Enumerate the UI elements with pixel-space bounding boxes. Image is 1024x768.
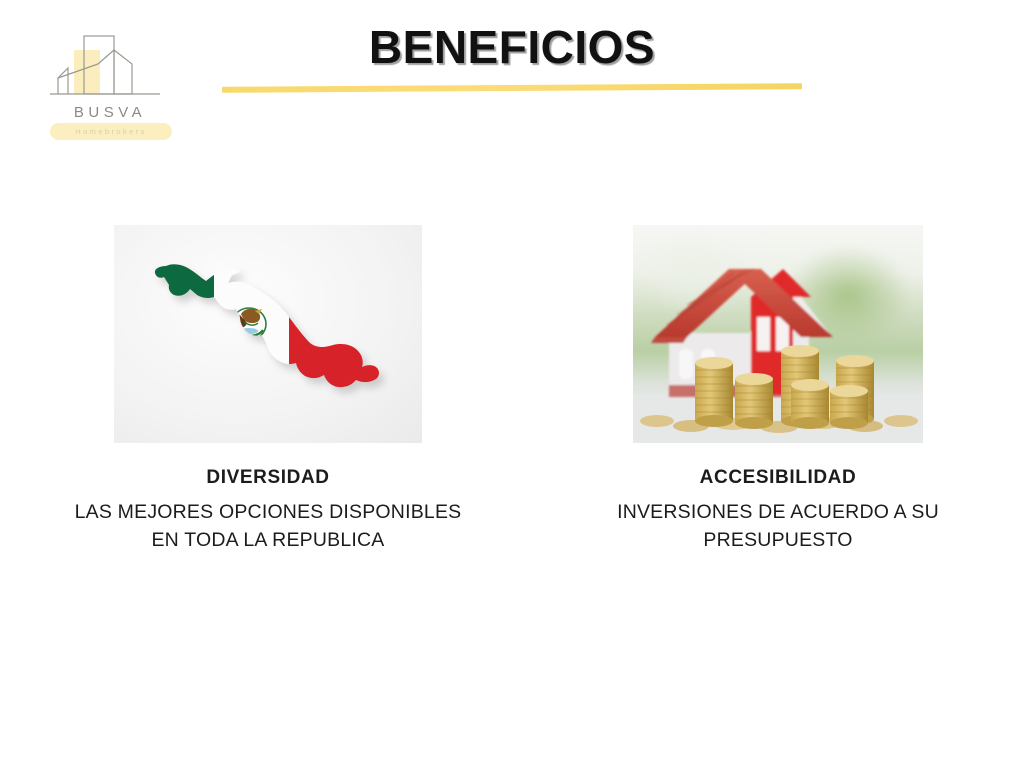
page-title: BENEFICIOS: [0, 20, 1024, 74]
caption-body-accesibilidad-line1: INVERSIONES DE ACUERDO A SU: [570, 498, 986, 526]
caption-body-diversidad-line2: EN TODA LA REPUBLICA: [40, 526, 496, 554]
caption-diversidad: DIVERSIDAD LAS MEJORES OPCIONES DISPONIB…: [40, 467, 496, 555]
benefit-card-diversidad: DIVERSIDAD LAS MEJORES OPCIONES DISPONIB…: [40, 225, 496, 555]
benefit-card-accesibilidad: ACCESIBILIDAD INVERSIONES DE ACUERDO A S…: [570, 225, 986, 555]
logo-tagline: Homebrokers: [50, 123, 172, 140]
caption-heading-diversidad: DIVERSIDAD: [40, 467, 496, 489]
logo-tagline-band: Homebrokers: [50, 123, 172, 140]
title-underline-rule: [222, 83, 802, 93]
caption-accesibilidad: ACCESIBILIDAD INVERSIONES DE ACUERDO A S…: [570, 467, 986, 555]
caption-body-accesibilidad-line2: PRESUPUESTO: [570, 526, 986, 554]
house-coins-image: [633, 225, 923, 443]
caption-heading-accesibilidad: ACCESIBILIDAD: [570, 467, 986, 489]
logo-wordmark: BUSVA: [36, 104, 184, 121]
caption-body-diversidad-line1: LAS MEJORES OPCIONES DISPONIBLES: [40, 498, 496, 526]
mexico-map-flag-image: [114, 225, 422, 443]
